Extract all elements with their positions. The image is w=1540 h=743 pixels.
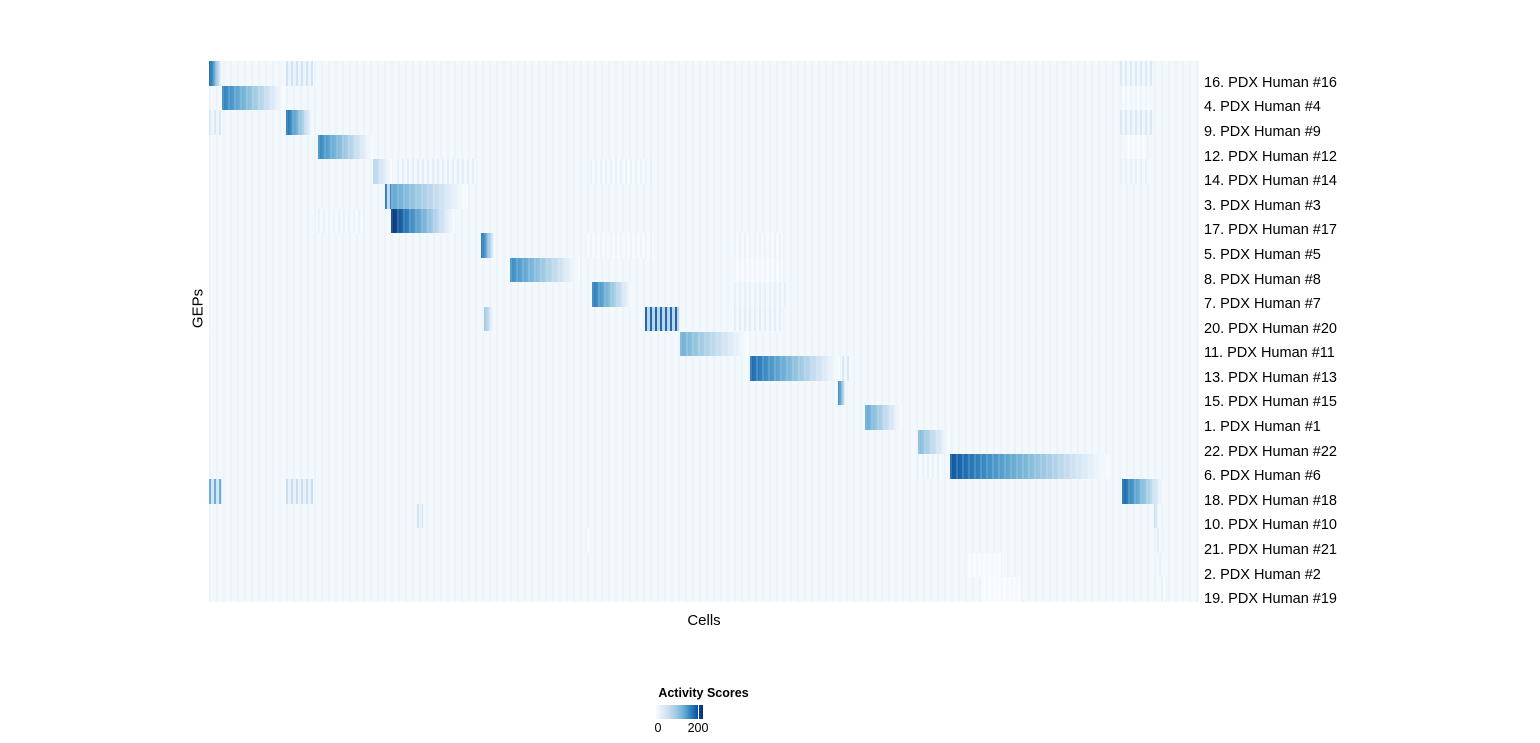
secondary-activity-streak (842, 356, 849, 381)
secondary-activity-streak (209, 479, 222, 504)
row-background-texture (209, 553, 1199, 578)
colorbar-tick-high (698, 705, 699, 719)
block-striation-overlay (391, 209, 454, 234)
block-striation-overlay (318, 135, 373, 160)
secondary-activity-streak (1161, 577, 1167, 602)
block-striation-overlay (222, 86, 285, 111)
block-striation-overlay (209, 61, 222, 86)
secondary-activity-streak (981, 577, 1021, 602)
row-background-texture (209, 381, 1199, 406)
row-background-texture (209, 577, 1199, 602)
block-striation-overlay (918, 430, 950, 455)
row-background-texture (209, 184, 1199, 209)
heatmap-row (209, 86, 1199, 111)
block-striation-overlay (865, 405, 902, 430)
block-striation-overlay (750, 356, 840, 381)
secondary-activity-streak (1120, 110, 1155, 135)
row-background-texture (209, 110, 1199, 135)
secondary-activity-streak (734, 282, 788, 307)
heatmap-row (209, 135, 1199, 160)
heatmap-row (209, 307, 1199, 332)
row-background-texture (209, 282, 1199, 307)
block-striation-overlay (1122, 479, 1165, 504)
secondary-activity-streak (734, 233, 784, 258)
row-background-texture (209, 356, 1199, 381)
secondary-activity-streak (1120, 159, 1150, 184)
colorbar-gradient (655, 705, 703, 719)
row-label: 18. PDX Human #18 (1204, 494, 1337, 509)
secondary-activity-streak (286, 479, 313, 504)
row-background-texture (209, 528, 1199, 553)
row-label: 6. PDX Human #6 (1204, 469, 1321, 484)
secondary-activity-streak (209, 110, 221, 135)
row-background-texture (209, 307, 1199, 332)
heatmap-row (209, 110, 1199, 135)
block-striation-overlay (484, 307, 494, 332)
secondary-activity-streak (734, 307, 784, 332)
row-label: 22. PDX Human #22 (1204, 444, 1337, 459)
colorbar-ticklabel-low: 0 (655, 721, 662, 735)
row-label: 12. PDX Human #12 (1204, 149, 1337, 164)
row-background-texture (209, 159, 1199, 184)
heatmap-row (209, 430, 1199, 455)
row-label: 4. PDX Human #4 (1204, 100, 1321, 115)
row-background-texture (209, 430, 1199, 455)
heatmap-figure: GEPs Cells 16. PDX Human #164. PDX Human… (0, 0, 1540, 743)
row-label: 21. PDX Human #21 (1204, 543, 1337, 558)
heatmap-row (209, 61, 1199, 86)
row-label: 5. PDX Human #5 (1204, 248, 1321, 263)
colorbar-title: Activity Scores (600, 686, 807, 700)
heatmap-row (209, 233, 1199, 258)
secondary-activity-streak (1159, 553, 1164, 578)
heatmap-plot-area (209, 61, 1199, 602)
secondary-activity-streak (417, 504, 423, 529)
heatmap-row (209, 332, 1199, 357)
colorbar-ticklabel-high: 200 (688, 721, 709, 735)
block-striation-overlay (286, 110, 313, 135)
secondary-activity-streak (1120, 61, 1155, 86)
x-axis-label: Cells (209, 612, 1199, 629)
block-striation-overlay (592, 282, 632, 307)
row-background-texture (209, 233, 1199, 258)
row-label: 14. PDX Human #14 (1204, 174, 1337, 189)
heatmap-row (209, 381, 1199, 406)
block-striation-overlay (1154, 504, 1159, 529)
block-striation-overlay (373, 159, 392, 184)
heatmap-row (209, 356, 1199, 381)
secondary-activity-streak (585, 528, 591, 553)
block-striation-overlay (950, 454, 1110, 479)
row-label: 17. PDX Human #17 (1204, 223, 1337, 238)
secondary-activity-streak (645, 307, 680, 332)
row-background-texture (209, 504, 1199, 529)
row-label: 11. PDX Human #11 (1204, 346, 1335, 361)
heatmap-row (209, 528, 1199, 553)
colorbar-legend: Activity Scores 0 200 (600, 686, 820, 743)
secondary-activity-streak (590, 159, 654, 184)
row-label: 20. PDX Human #20 (1204, 321, 1337, 336)
row-label: 19. PDX Human #19 (1204, 592, 1337, 607)
row-label: 2. PDX Human #2 (1204, 567, 1321, 582)
secondary-activity-streak (917, 454, 942, 479)
heatmap-row (209, 577, 1199, 602)
heatmap-row (209, 159, 1199, 184)
row-label: 7. PDX Human #7 (1204, 297, 1321, 312)
heatmap-row (209, 479, 1199, 504)
heatmap-row (209, 258, 1199, 283)
block-striation-overlay (680, 332, 748, 357)
row-background-texture (209, 258, 1199, 283)
secondary-activity-streak (734, 258, 784, 283)
row-label: 9. PDX Human #9 (1204, 125, 1321, 140)
row-label: 16. PDX Human #16 (1204, 76, 1337, 91)
secondary-activity-streak (585, 233, 654, 258)
heatmap-row (209, 405, 1199, 430)
secondary-activity-streak (1157, 528, 1162, 553)
row-label: 3. PDX Human #3 (1204, 199, 1321, 214)
row-label: 13. PDX Human #13 (1204, 371, 1337, 386)
row-background-texture (209, 86, 1199, 111)
heatmap-row (209, 209, 1199, 234)
y-axis-label: GEPs (190, 279, 207, 339)
secondary-activity-streak (966, 553, 1001, 578)
row-background-texture (209, 479, 1199, 504)
heatmap-row (209, 184, 1199, 209)
row-label-list: 16. PDX Human #164. PDX Human #49. PDX H… (1204, 61, 1534, 602)
secondary-activity-streak (397, 159, 476, 184)
row-background-texture (209, 405, 1199, 430)
block-striation-overlay (391, 184, 468, 209)
row-label: 10. PDX Human #10 (1204, 518, 1337, 533)
secondary-activity-streak (286, 61, 313, 86)
row-label: 1. PDX Human #1 (1204, 420, 1321, 435)
block-striation-overlay (481, 233, 495, 258)
row-label: 8. PDX Human #8 (1204, 272, 1321, 287)
row-background-texture (209, 61, 1199, 86)
heatmap-row (209, 504, 1199, 529)
secondary-activity-streak (318, 209, 368, 234)
heatmap-row (209, 553, 1199, 578)
secondary-activity-streak (1125, 135, 1145, 160)
row-label: 15. PDX Human #15 (1204, 395, 1337, 410)
block-striation-overlay (510, 258, 580, 283)
heatmap-row (209, 454, 1199, 479)
block-striation-overlay (838, 381, 846, 406)
secondary-activity-streak (1120, 86, 1150, 111)
heatmap-row (209, 282, 1199, 307)
